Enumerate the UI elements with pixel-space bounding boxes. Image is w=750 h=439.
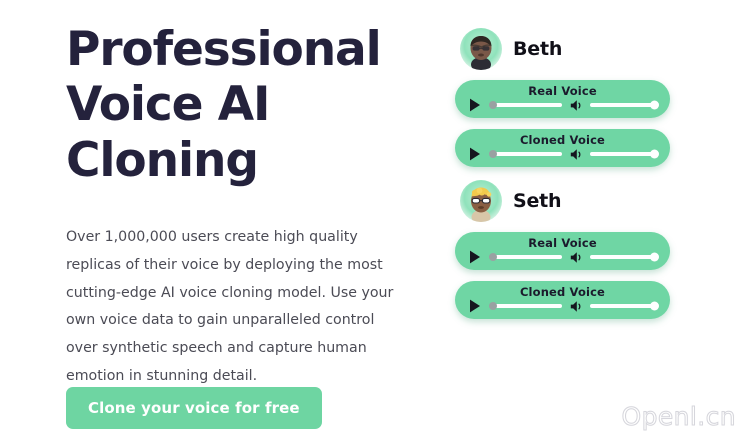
speaker-block-beth: Beth Real Voice [455, 26, 670, 167]
volume-slider[interactable] [590, 251, 658, 263]
volume-track [590, 255, 658, 258]
speaker-header-beth: Beth [455, 26, 670, 72]
audio-player-seth-real[interactable]: Real Voice [455, 232, 670, 270]
landing-page-hero: Professional Voice AI Cloning Over 1,000… [0, 0, 750, 439]
volume-track [590, 103, 658, 106]
voice-samples-column: Beth Real Voice [455, 26, 670, 330]
avatar-beth-icon [460, 28, 502, 70]
speaker-name-seth: Seth [513, 190, 561, 212]
progress-knob[interactable] [489, 150, 497, 158]
progress-slider[interactable] [490, 99, 562, 111]
speaker-block-seth: Seth Real Voice [455, 178, 670, 319]
audio-player-seth-cloned[interactable]: Cloned Voice [455, 281, 670, 319]
progress-slider[interactable] [490, 251, 562, 263]
hero-text-column: Professional Voice AI Cloning Over 1,000… [66, 22, 416, 188]
progress-track [490, 152, 562, 155]
watermark: Openl.cn [622, 402, 736, 431]
volume-track [590, 152, 658, 155]
speaker-name-beth: Beth [513, 38, 562, 60]
audio-player-beth-real[interactable]: Real Voice [455, 80, 670, 118]
speaker-header-seth: Seth [455, 178, 670, 224]
volume-knob[interactable] [650, 253, 659, 262]
speaker-volume-icon[interactable] [570, 251, 583, 264]
volume-slider[interactable] [590, 99, 658, 111]
progress-knob[interactable] [489, 253, 497, 261]
avatar-seth-icon [460, 180, 502, 222]
volume-knob[interactable] [650, 150, 659, 159]
player-label: Real Voice [455, 84, 670, 98]
volume-track [590, 304, 658, 307]
progress-track [490, 304, 562, 307]
progress-track [490, 255, 562, 258]
player-label: Cloned Voice [455, 133, 670, 147]
player-label: Real Voice [455, 236, 670, 250]
play-icon[interactable] [469, 299, 481, 313]
clone-your-voice-button[interactable]: Clone your voice for free [66, 387, 322, 429]
speaker-volume-icon[interactable] [570, 99, 583, 112]
speaker-volume-icon[interactable] [570, 148, 583, 161]
player-label: Cloned Voice [455, 285, 670, 299]
progress-knob[interactable] [489, 302, 497, 310]
volume-slider[interactable] [590, 148, 658, 160]
progress-slider[interactable] [490, 300, 562, 312]
progress-knob[interactable] [489, 101, 497, 109]
volume-knob[interactable] [650, 302, 659, 311]
audio-player-beth-cloned[interactable]: Cloned Voice [455, 129, 670, 167]
play-icon[interactable] [469, 250, 481, 264]
page-title: Professional Voice AI Cloning [66, 22, 416, 188]
volume-slider[interactable] [590, 300, 658, 312]
volume-knob[interactable] [650, 101, 659, 110]
speaker-volume-icon[interactable] [570, 300, 583, 313]
progress-slider[interactable] [490, 148, 562, 160]
play-icon[interactable] [469, 147, 481, 161]
play-icon[interactable] [469, 98, 481, 112]
hero-paragraph: Over 1,000,000 users create high quality… [66, 224, 404, 391]
progress-track [490, 103, 562, 106]
